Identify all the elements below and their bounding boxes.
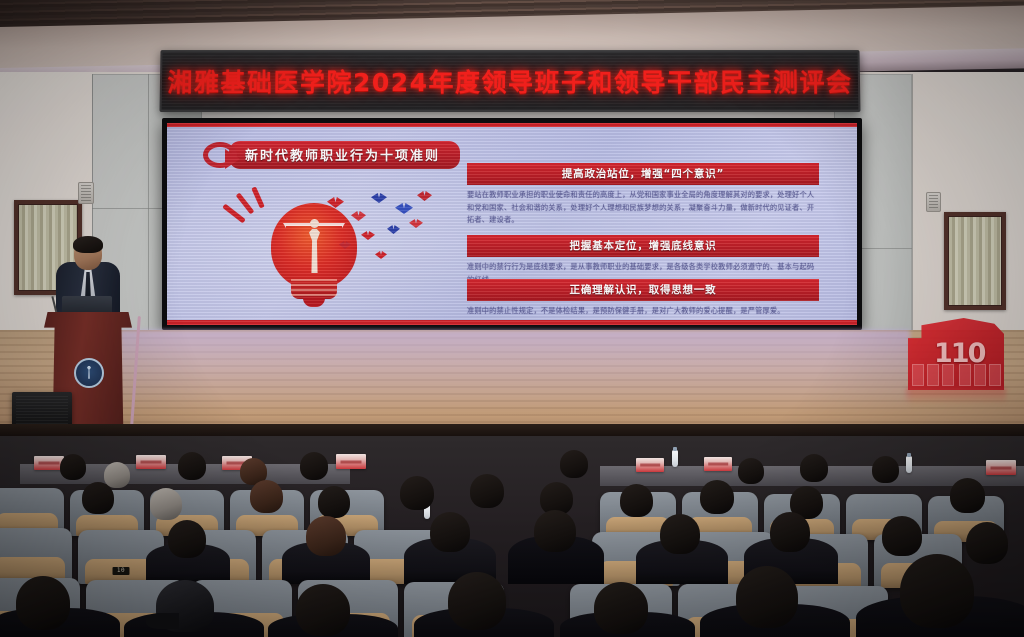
water-bottle (672, 450, 678, 467)
audience-head (168, 520, 206, 558)
display-photo-tile (912, 364, 924, 386)
audience-head (700, 480, 734, 514)
audience-head (800, 454, 828, 482)
audience-head (82, 482, 114, 514)
banner-title-text: 湘雅基础医学院2024年度领导班子和领导干部民主测评会 (162, 52, 859, 110)
right-wall-speaker (926, 192, 941, 212)
audience-head (296, 584, 350, 636)
university-crest-icon (74, 358, 104, 388)
bird-icon (395, 203, 413, 214)
audience-head (448, 572, 506, 630)
audience-head (770, 512, 810, 552)
section-body: 要站在教师职业承担的职业使命和责任的高度上，从党和国家事业全局的角度理解其对的要… (467, 189, 819, 227)
bird-icon (387, 225, 400, 234)
slide-header-label: 新时代教师职业行为十项准则 (229, 141, 460, 169)
name-card (986, 460, 1016, 475)
audience-head (882, 516, 922, 556)
audience-head (660, 514, 700, 554)
display-photo-tile (942, 364, 954, 386)
bird-icon (409, 219, 423, 228)
name-card (336, 454, 366, 469)
seat-number-plate: 10 (113, 567, 130, 575)
audience-head (300, 452, 328, 480)
name-card (136, 455, 166, 469)
section-title: 正确理解认识，取得思想一致 (467, 279, 819, 301)
auditorium-seat[interactable] (0, 528, 72, 582)
slide-top-accent-bar (167, 123, 857, 127)
display-photo-tile (989, 364, 1001, 386)
audience-head (560, 450, 588, 478)
audience-head (594, 582, 648, 634)
audience-head (250, 480, 283, 513)
display-photo-tile (927, 364, 939, 386)
right-window-alcove (944, 212, 1006, 310)
audience-head (400, 476, 434, 510)
audience-head (430, 512, 470, 552)
section-title: 提高政治站位，增强“四个意识” (467, 163, 819, 185)
speaker-hair (73, 236, 103, 253)
audience-area: 10 13 10 11 12 (0, 436, 1024, 637)
display-floor-reflection (906, 388, 1006, 404)
anniversary-110-display: 110 (908, 318, 1004, 390)
audience-head (178, 452, 206, 480)
audience-head (318, 486, 350, 518)
audience-head (104, 462, 130, 488)
audience-head (534, 510, 576, 552)
bulb-base (303, 297, 325, 307)
lightbulb-artwork (211, 185, 461, 325)
bird-icon (351, 211, 366, 221)
ray-icon (236, 193, 255, 215)
audience-head (872, 456, 899, 483)
audience-head (16, 576, 70, 630)
bird-icon (339, 241, 351, 249)
audience-head (736, 566, 798, 628)
bird-icon (417, 191, 432, 201)
slide-canvas: 新时代教师职业行为十项准则 (167, 123, 857, 325)
ray-icon (251, 186, 265, 208)
slide-section: 提高政治站位，增强“四个意识” 要站在教师职业承担的职业使命和责任的高度上，从党… (467, 163, 819, 227)
audience-head (60, 454, 86, 480)
led-title-banner: 湘雅基础医学院2024年度领导班子和领导干部民主测评会 (159, 50, 860, 112)
ribbon-arrow-icon (203, 142, 237, 168)
slide-header: 新时代教师职业行为十项准则 (203, 141, 460, 169)
right-window-curtain (949, 217, 1001, 305)
audience-head (470, 474, 504, 508)
name-card (636, 458, 664, 472)
auditorium-scene: 湘雅基础医学院2024年度领导班子和领导干部民主测评会 新时代教师职业行为十项准… (0, 0, 1024, 637)
audience-head (156, 580, 214, 632)
human-figure-icon (303, 219, 325, 277)
left-wall-speaker (78, 182, 94, 204)
audience-head (950, 478, 985, 513)
ray-icon (222, 204, 246, 224)
slide-section: 正确理解认识，取得思想一致 准则中的禁止性规定，不是体检结果，是预防保健手册，是… (467, 279, 819, 318)
audience-head (306, 516, 346, 556)
display-photo-tile (974, 364, 986, 386)
display-photo-tile (959, 364, 971, 386)
bird-icon (375, 251, 387, 259)
audience-head (738, 458, 764, 484)
audience-head (620, 484, 653, 517)
led-presentation-screen: 新时代教师职业行为十项准则 (162, 118, 862, 330)
name-card (704, 457, 732, 471)
section-body: 准则中的禁止性规定，不是体检结果，是预防保健手册，是对广大教师的爱心提醒，是严管… (467, 305, 819, 318)
stage-screen-reflection (120, 330, 910, 412)
slide-bottom-accent-bar (167, 320, 857, 325)
audience-head (966, 522, 1008, 564)
bird-icon (361, 231, 375, 240)
bulb-neck (291, 279, 337, 299)
audience-head (150, 488, 182, 520)
water-bottle (906, 456, 912, 473)
bird-icon (327, 197, 344, 208)
bird-icon (371, 193, 387, 203)
audience-head (900, 554, 974, 628)
section-title: 把握基本定位，增强底线意识 (467, 235, 819, 257)
